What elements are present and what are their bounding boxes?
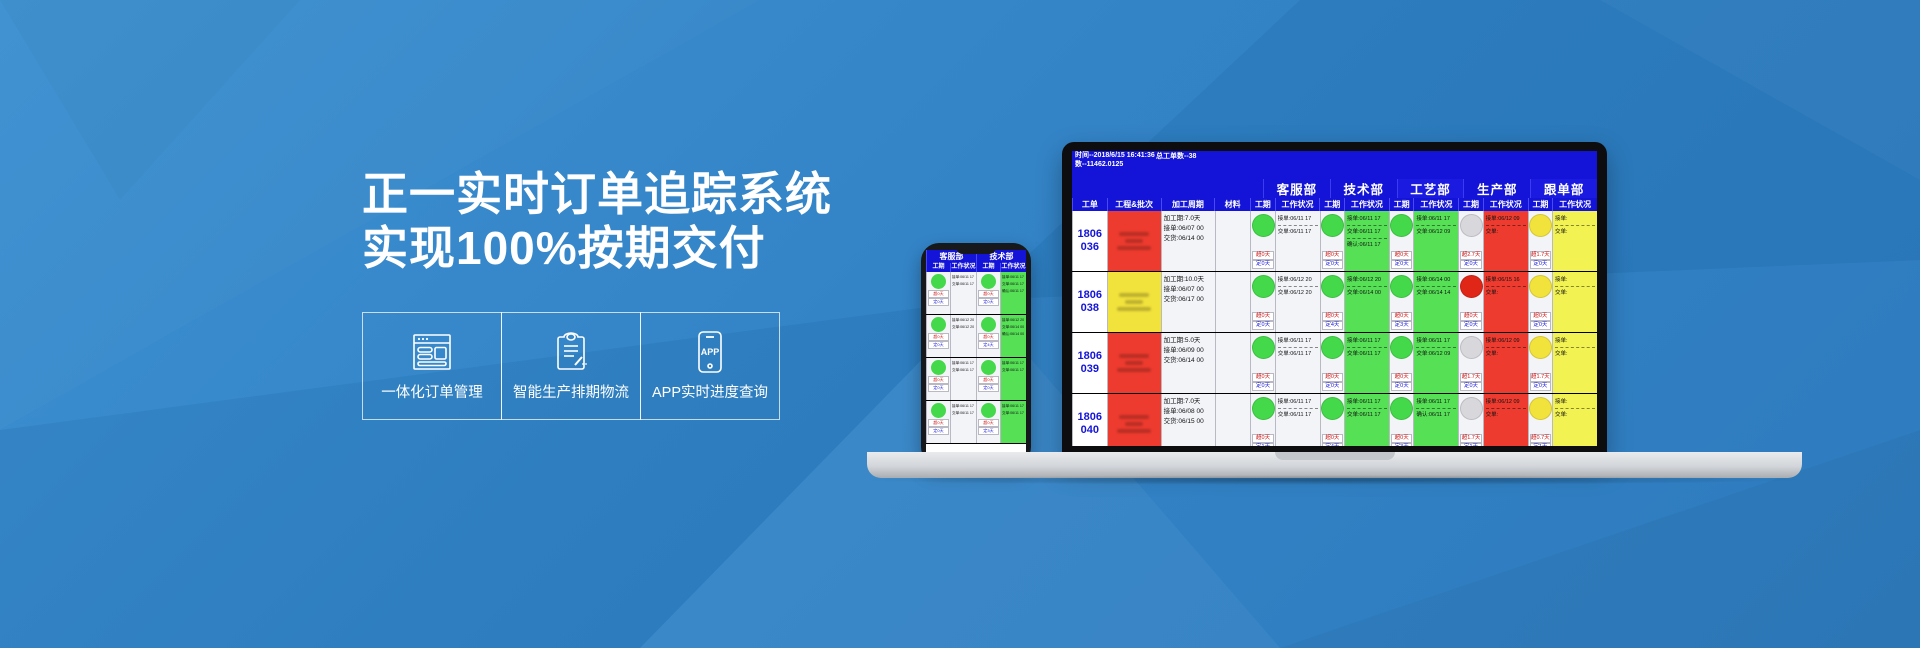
over-days-badge: 超0天: [1252, 312, 1273, 321]
status-line: 交单:06/11 17: [1002, 410, 1025, 417]
table-row[interactable]: 1806039加工期:5.0天接单:06/09 00交货:06/14 00超0天…: [1072, 333, 1597, 394]
status-line: 接单:06/12 20: [1002, 317, 1025, 324]
phone-work-status-cell-1[interactable]: 接单:06/11 17交单:06/11 17确认:06/11 17: [1000, 272, 1026, 314]
status-line: 接单:06/11 17: [1416, 214, 1456, 224]
duration-cell-2[interactable]: 超0天定3天: [1389, 394, 1413, 446]
set-days-badge: 定4天: [1322, 321, 1343, 330]
status-line: 确认:06/11 17: [1002, 288, 1025, 295]
set-days-badge: 定0天: [1530, 382, 1551, 391]
set-days-badge: 定0天: [1391, 382, 1412, 391]
phone-table-row[interactable]: 超0天定0天接单:06/11 17交单:06/11 17超0天定3天接单:06/…: [926, 401, 1026, 444]
status-indicator-green: [1252, 214, 1275, 237]
status-line: 接单:06/12 20: [952, 317, 975, 324]
status-indicator-green: [1390, 275, 1413, 298]
status-line: 接单:06/11 17: [1416, 336, 1456, 346]
duration-cell-4[interactable]: 超1.7天定0天: [1528, 211, 1552, 271]
over-days-badge: 超0天: [1252, 373, 1273, 382]
over-days-badge: 超0天: [978, 419, 999, 427]
processing-cycle-cell: 加工期:7.0天接单:06/07 00交货:06/14 00: [1161, 211, 1215, 271]
feature-label: 一体化订单管理: [381, 381, 483, 402]
hero-copy: 正一实时订单追踪系统 实现100%按期交付: [362, 168, 922, 420]
status-line: 交单:06/12 20: [952, 324, 975, 331]
set-days-badge: 定0天: [978, 298, 999, 306]
project-batch-cell: [1107, 211, 1161, 271]
set-days-badge: 定0天: [928, 427, 949, 435]
phone-duration-cell-0[interactable]: 超0天定0天: [926, 315, 950, 357]
status-line: 接单:06/15 16: [1486, 275, 1526, 285]
status-indicator-green: [981, 360, 996, 375]
feature-label: 智能生产排期物流: [513, 381, 629, 402]
status-indicator-green: [931, 274, 946, 289]
work-status-cell-0[interactable]: 接单:06/11 17交单:06/11 17: [1275, 211, 1320, 271]
status-indicator-green: [931, 317, 946, 332]
duration-cell-2[interactable]: 超0天定3天: [1389, 272, 1413, 332]
mobile-app-icon: APP: [695, 329, 725, 375]
col-work-order: 工单: [1072, 198, 1107, 211]
over-days-badge: 超0天: [1252, 251, 1273, 260]
over-days-badge: 超0天: [1391, 251, 1412, 260]
set-days-badge: 定0天: [1530, 321, 1551, 330]
status-line: 接单:06/11 17: [1347, 336, 1387, 346]
headline-line-1: 正一实时订单追踪系统: [362, 168, 832, 220]
department-header-craft[interactable]: 工艺部: [1397, 179, 1464, 198]
processing-cycle-cell: 加工期:7.0天接单:06/08 00交货:06/15 00: [1161, 394, 1215, 446]
status-line: 交单:06/14 14: [1416, 288, 1456, 298]
over-days-badge: 超0天: [928, 333, 949, 341]
duration-cell-4[interactable]: 超0天定0天: [1528, 272, 1552, 332]
dashboard-meta-row: 时间--2018/6/15 16:41:36 数--11462.0125 总工单…: [1072, 151, 1597, 179]
work-status-cell-3[interactable]: 接单:06/12 09交单:: [1483, 211, 1528, 271]
app-icon-text: APP: [701, 347, 720, 357]
status-indicator-green: [1252, 397, 1275, 420]
status-line: 接单:06/11 17: [1278, 397, 1318, 407]
status-line: 接单:: [1555, 397, 1595, 407]
status-indicator-yellow: [1529, 397, 1552, 420]
headline-line-2: 实现100%按期交付: [362, 222, 922, 276]
over-days-badge: 超0天: [1252, 434, 1273, 443]
set-days-badge: 定0天: [1322, 382, 1343, 391]
work-order-number: 1806039: [1072, 333, 1107, 393]
department-header-technology[interactable]: 技术部: [1330, 179, 1397, 198]
status-indicator-green: [1321, 336, 1344, 359]
duration-cell-2[interactable]: 超0天定0天: [1389, 333, 1413, 393]
duration-cell-3[interactable]: 超0天定0天: [1458, 272, 1482, 332]
set-days-badge: 定0天: [1391, 260, 1412, 269]
set-days-badge: 定1天: [1252, 443, 1273, 446]
status-indicator-green: [931, 403, 946, 418]
phone-department-header: 客服部 技术部: [926, 250, 1026, 263]
project-batch-cell: [1107, 272, 1161, 332]
over-days-badge: 超0天: [1322, 434, 1343, 443]
status-line: 交单:: [1555, 288, 1595, 298]
dashboard-header: 时间--2018/6/15 16:41:36 数--11462.0125 总工单…: [1072, 151, 1597, 211]
work-status-cell-2[interactable]: 接单:06/11 17交单:06/12 09: [1413, 211, 1458, 271]
status-line: 接单:: [1555, 336, 1595, 346]
duration-cell-2[interactable]: 超0天定0天: [1389, 211, 1413, 271]
processing-cycle-cell: 加工期:10.0天接单:06/07 00交货:06/17 00: [1161, 272, 1215, 332]
set-days-badge: 定0天: [978, 384, 999, 392]
set-days-badge: 定3天: [978, 427, 999, 435]
status-line: 交单:06/12 09: [1416, 227, 1456, 237]
status-line: 接单:06/14 00: [1416, 275, 1456, 285]
status-indicator-green: [1252, 336, 1275, 359]
status-line: 交单:06/12 20: [1278, 288, 1318, 298]
status-line: 接单:06/12 20: [1278, 275, 1318, 285]
set-days-badge: 定4天: [978, 341, 999, 349]
status-line: 交单:: [1486, 410, 1526, 420]
phone-table-row[interactable]: 超0天定0天接单:06/11 17交单:06/11 17超0天定0天接单:06/…: [926, 358, 1026, 401]
over-days-badge: 超0天: [1530, 312, 1551, 321]
phone-col-status: 工作状况: [1000, 263, 1026, 272]
duration-cell-0[interactable]: 超0天定0天: [1250, 211, 1274, 271]
work-status-cell-1[interactable]: 接单:06/11 17交单:06/11 17确认:06/11 17: [1344, 211, 1389, 271]
over-days-badge: 超1.7天: [1460, 373, 1481, 382]
status-line: 接单:06/12 09: [1486, 397, 1526, 407]
dashboard-meta-total-wrap: 总工单数--38: [1200, 151, 1399, 163]
phone-screen: 客服部 技术部 工期 工作状况 工期 工作状况 超0天定0天接单:06/11 1…: [926, 250, 1026, 458]
phone-work-status-cell-1[interactable]: 接单:06/11 17交单:06/11 17: [1000, 358, 1026, 400]
work-status-cell-2[interactable]: 接单:06/14 00交单:06/14 14: [1413, 272, 1458, 332]
duration-cell-0[interactable]: 超0天定0天: [1250, 333, 1274, 393]
phone-dashboard: 客服部 技术部 工期 工作状况 工期 工作状况 超0天定0天接单:06/11 1…: [926, 250, 1026, 444]
over-days-badge: 超0天: [1322, 312, 1343, 321]
laptop-screen: 时间--2018/6/15 16:41:36 数--11462.0125 总工单…: [1072, 151, 1597, 446]
work-order-number: 1806036: [1072, 211, 1107, 271]
status-indicator-yellow: [1529, 275, 1552, 298]
status-line: 交单:06/11 17: [1278, 349, 1318, 359]
work-status-cell-4[interactable]: 接单:交单:: [1552, 272, 1597, 332]
department-header-order-follow[interactable]: 跟单部: [1530, 179, 1597, 198]
set-days-badge: 定3天: [1391, 443, 1412, 446]
total-orders-label: 总工单数--38: [1156, 151, 1196, 161]
phone-mockup: 客服部 技术部 工期 工作状况 工期 工作状况 超0天定0天接单:06/11 1…: [921, 243, 1031, 465]
status-line: 接单:06/11 17: [1347, 397, 1387, 407]
set-days-badge: 定0天: [1252, 321, 1273, 330]
status-line: 接单:06/11 17: [952, 403, 975, 410]
status-line: 交单:06/11 17: [952, 281, 975, 288]
phone-work-status-cell-0[interactable]: 接单:06/11 17交单:06/11 17: [950, 358, 976, 400]
over-days-badge: 超0天: [978, 290, 999, 298]
status-line: 交单:06/11 17: [1347, 349, 1387, 359]
phone-duration-cell-0[interactable]: 超0天定0天: [926, 401, 950, 443]
duration-cell-1[interactable]: 超0天定4天: [1320, 394, 1344, 446]
set-days-badge: 定0天: [1322, 260, 1343, 269]
column-header-row: 工单 工程&批次 加工周期 材料 工期工作状况工期工作状况工期工作状况工期工作状…: [1072, 198, 1597, 211]
over-days-badge: 超0天: [1460, 312, 1481, 321]
over-days-badge: 超0天: [928, 419, 949, 427]
count-label: 数--11462.0125: [1075, 161, 1200, 170]
phone-duration-cell-0[interactable]: 超0天定0天: [926, 272, 950, 314]
feature-item-order-management[interactable]: 一体化订单管理: [362, 312, 502, 420]
set-days-badge: 定4天: [1322, 443, 1343, 446]
status-line: 交单:: [1555, 349, 1595, 359]
work-status-cell-1[interactable]: 接单:06/11 17交单:06/11 17: [1344, 394, 1389, 446]
phone-col-duration: 工期: [976, 263, 1000, 272]
status-line: 接单:06/12 09: [1486, 336, 1526, 346]
work-status-cell-0[interactable]: 接单:06/11 17交单:06/11 17: [1275, 394, 1320, 446]
status-indicator-gray: [1460, 214, 1483, 237]
status-indicator-green: [1252, 275, 1275, 298]
status-line: 接单:06/11 17: [1002, 403, 1025, 410]
status-line: 接单:06/11 17: [1347, 214, 1387, 224]
feature-item-production-scheduling[interactable]: 智能生产排期物流: [501, 312, 641, 420]
phone-column-header: 工期 工作状况 工期 工作状况: [926, 263, 1026, 272]
status-line: 交单:: [1486, 349, 1526, 359]
status-line: 接单:06/11 17: [952, 274, 975, 281]
phone-work-status-cell-1[interactable]: 接单:06/11 17交单:06/11 17: [1000, 401, 1026, 443]
status-line: 交单:06/11 17: [1347, 227, 1387, 237]
material-cell: [1215, 394, 1250, 446]
work-status-cell-4[interactable]: 接单:交单:: [1552, 333, 1597, 393]
status-line: 交单:06/14 00: [1347, 288, 1387, 298]
table-row[interactable]: 1806038加工期:10.0天接单:06/07 00交货:06/17 00超0…: [1072, 272, 1597, 333]
material-cell: [1215, 211, 1250, 271]
work-status-cell-4[interactable]: 接单:交单:: [1552, 394, 1597, 446]
status-indicator-green: [1390, 214, 1413, 237]
duration-cell-0[interactable]: 超0天定1天: [1250, 394, 1274, 446]
set-days-badge: 定1天: [1530, 443, 1551, 446]
status-line: 交单:06/11 17: [1278, 227, 1318, 237]
status-line: 确认:06/14 00: [1002, 331, 1025, 338]
work-status-cell-4[interactable]: 接单:交单:: [1552, 211, 1597, 271]
over-days-badge: 超0天: [1391, 373, 1412, 382]
clipboard-icon: [551, 329, 591, 375]
table-row[interactable]: 1806040加工期:7.0天接单:06/08 00交货:06/15 00超0天…: [1072, 394, 1597, 446]
phone-col-duration: 工期: [926, 263, 950, 272]
status-indicator-green: [1321, 275, 1344, 298]
over-days-badge: 超0天: [978, 376, 999, 384]
work-status-cell-3[interactable]: 接单:06/12 09交单:: [1483, 394, 1528, 446]
duration-cell-4[interactable]: 超0.7天定1天: [1528, 394, 1552, 446]
over-days-badge: 超0天: [1322, 373, 1343, 382]
dashboard-table-body: 1806036加工期:7.0天接单:06/07 00交货:06/14 00超0天…: [1072, 211, 1597, 446]
phone-work-status-cell-0[interactable]: 接单:06/11 17交单:06/11 17: [950, 272, 976, 314]
status-line: 接单:06/11 17: [952, 360, 975, 367]
status-line: 交单:06/11 17: [1278, 410, 1318, 420]
work-status-cell-2[interactable]: 接单:06/11 17交单:06/12 09: [1413, 333, 1458, 393]
department-header-row: 客服部 技术部 工艺部 生产部 跟单部: [1072, 179, 1597, 198]
laptop-shadow: [857, 475, 1812, 485]
over-days-badge: 超1.7天: [1530, 373, 1551, 382]
phone-work-status-cell-0[interactable]: 接单:06/11 17交单:06/11 17: [950, 401, 976, 443]
over-days-badge: 超0天: [978, 333, 999, 341]
status-line: 接单:06/12 20: [1347, 275, 1387, 285]
over-days-badge: 超2.7天: [1460, 251, 1481, 260]
processing-cycle-cell: 加工期:5.0天接单:06/09 00交货:06/14 00: [1161, 333, 1215, 393]
status-indicator-green: [1321, 397, 1344, 420]
status-indicator-green: [1321, 214, 1344, 237]
work-status-cell-2[interactable]: 接单:06/11 17确认:06/11 17: [1413, 394, 1458, 446]
laptop-lid: 时间--2018/6/15 16:41:36 数--11462.0125 总工单…: [1062, 142, 1607, 460]
order-tracking-dashboard: 时间--2018/6/15 16:41:36 数--11462.0125 总工单…: [1072, 151, 1597, 446]
phone-work-status-cell-0[interactable]: 接单:06/12 20交单:06/12 20: [950, 315, 976, 357]
status-line: 交单:06/14 00: [1002, 324, 1025, 331]
over-days-badge: 超1.7天: [1530, 251, 1551, 260]
status-line: 接单:06/11 17: [1002, 274, 1025, 281]
feature-item-app-progress-query[interactable]: APP APP实时进度查询: [640, 312, 780, 420]
work-status-cell-3[interactable]: 接单:06/12 09交单:: [1483, 333, 1528, 393]
set-days-badge: 定3天: [1391, 321, 1412, 330]
set-days-badge: 定0天: [1252, 260, 1273, 269]
status-line: 交单:06/12 09: [1416, 349, 1456, 359]
phone-duration-cell-1[interactable]: 超0天定0天: [976, 272, 1000, 314]
status-line: 接单:06/11 17: [1416, 397, 1456, 407]
status-indicator-green: [981, 317, 996, 332]
status-indicator-yellow: [1529, 214, 1552, 237]
over-days-badge: 超1.7天: [1460, 434, 1481, 443]
status-indicator-green: [1390, 397, 1413, 420]
work-status-cell-0[interactable]: 接单:06/11 17交单:06/11 17: [1275, 333, 1320, 393]
banner-stage: 正一实时订单追踪系统 实现100%按期交付: [0, 0, 1920, 648]
window-dashboard-icon: [411, 329, 453, 375]
work-status-cell-0[interactable]: 接单:06/12 20交单:06/12 20: [1275, 272, 1320, 332]
phone-dept-label: 技术部: [976, 250, 1026, 263]
status-line: 交单:: [1555, 410, 1595, 420]
status-line: 交单:: [1486, 288, 1526, 298]
over-days-badge: 超0天: [928, 376, 949, 384]
set-days-badge: 定0天: [1252, 382, 1273, 391]
work-order-number: 1806040: [1072, 394, 1107, 446]
set-days-badge: 定1天: [1460, 443, 1481, 446]
duration-cell-1[interactable]: 超0天定0天: [1320, 333, 1344, 393]
table-row[interactable]: 1806036加工期:7.0天接单:06/07 00交货:06/14 00超0天…: [1072, 211, 1597, 272]
material-cell: [1215, 333, 1250, 393]
duration-cell-1[interactable]: 超0天定4天: [1320, 272, 1344, 332]
set-days-badge: 定0天: [1460, 321, 1481, 330]
status-indicator-gray: [1460, 336, 1483, 359]
duration-cell-3[interactable]: 超1.7天定0天: [1458, 333, 1482, 393]
work-order-number: 1806038: [1072, 272, 1107, 332]
duration-cell-4[interactable]: 超1.7天定0天: [1528, 333, 1552, 393]
feature-label: APP实时进度查询: [652, 381, 768, 402]
material-cell: [1215, 272, 1250, 332]
col-processing-cycle: 加工周期: [1161, 198, 1215, 211]
status-line: 交单:06/11 17: [952, 410, 975, 417]
phone-table-body: 超0天定0天接单:06/11 17交单:06/11 17超0天定0天接单:06/…: [926, 272, 1026, 444]
status-indicator-green: [981, 403, 996, 418]
set-days-badge: 定0天: [928, 384, 949, 392]
set-days-badge: 定0天: [1460, 382, 1481, 391]
status-line: 交单:06/11 17: [1002, 281, 1025, 288]
status-line: 接单:06/11 17: [1278, 214, 1318, 224]
set-days-badge: 定0天: [1530, 260, 1551, 269]
department-header-customer-service[interactable]: 客服部: [1263, 179, 1330, 198]
col-project-batch: 工程&批次: [1107, 198, 1161, 211]
status-line: 交单:06/11 17: [1347, 410, 1387, 420]
phone-table-row[interactable]: 超0天定0天接单:06/11 17交单:06/11 17超0天定0天接单:06/…: [926, 272, 1026, 315]
status-line: 交单:: [1486, 227, 1526, 237]
over-days-badge: 超0天: [1391, 312, 1412, 321]
col-material: 材料: [1214, 198, 1250, 211]
duration-cell-3[interactable]: 超2.7天定0天: [1458, 211, 1482, 271]
duration-cell-1[interactable]: 超0天定0天: [1320, 211, 1344, 271]
phone-work-status-cell-1[interactable]: 接单:06/12 20交单:06/14 00确认:06/14 00: [1000, 315, 1026, 357]
laptop-mockup: 时间--2018/6/15 16:41:36 数--11462.0125 总工单…: [1062, 142, 1607, 472]
department-header-production[interactable]: 生产部: [1463, 179, 1530, 198]
status-line: 接单:: [1555, 275, 1595, 285]
status-line: 交单:: [1555, 227, 1595, 237]
status-indicator-green: [1390, 336, 1413, 359]
duration-cell-0[interactable]: 超0天定0天: [1250, 272, 1274, 332]
work-status-cell-3[interactable]: 接单:06/15 16交单:: [1483, 272, 1528, 332]
status-line: 接单:06/11 17: [1278, 336, 1318, 346]
over-days-badge: 超0天: [1391, 434, 1412, 443]
status-line: 确认:06/11 17: [1416, 410, 1456, 420]
over-days-badge: 超0天: [1322, 251, 1343, 260]
status-line: 确认:06/11 17: [1347, 240, 1387, 250]
status-indicator-gray: [1460, 397, 1483, 420]
phone-table-row[interactable]: 超0天定0天接单:06/12 20交单:06/12 20超0天定4天接单:06/…: [926, 315, 1026, 358]
status-indicator-green: [931, 360, 946, 375]
status-line: 交单:06/11 17: [952, 367, 975, 374]
phone-duration-cell-1[interactable]: 超0天定4天: [976, 315, 1000, 357]
work-status-cell-1[interactable]: 接单:06/12 20交单:06/14 00: [1344, 272, 1389, 332]
status-line: 接单:: [1555, 214, 1595, 224]
feature-list: 一体化订单管理 智能生产排期物流: [362, 312, 922, 420]
status-indicator-green: [981, 274, 996, 289]
phone-duration-cell-1[interactable]: 超0天定0天: [976, 358, 1000, 400]
over-days-badge: 超0.7天: [1530, 434, 1551, 443]
duration-cell-3[interactable]: 超1.7天定1天: [1458, 394, 1482, 446]
phone-col-status: 工作状况: [950, 263, 976, 272]
status-indicator-red: [1460, 275, 1483, 298]
project-batch-cell: [1107, 333, 1161, 393]
phone-dept-label: 客服部: [926, 250, 976, 263]
phone-duration-cell-1[interactable]: 超0天定3天: [976, 401, 1000, 443]
set-days-badge: 定0天: [928, 298, 949, 306]
page-title: 正一实时订单追踪系统 实现100%按期交付: [362, 168, 922, 276]
work-status-cell-1[interactable]: 接单:06/11 17交单:06/11 17: [1344, 333, 1389, 393]
set-days-badge: 定0天: [928, 341, 949, 349]
status-indicator-yellow: [1529, 336, 1552, 359]
project-batch-cell: [1107, 394, 1161, 446]
phone-duration-cell-0[interactable]: 超0天定0天: [926, 358, 950, 400]
status-line: 交单:06/11 17: [1002, 367, 1025, 374]
over-days-badge: 超0天: [928, 290, 949, 298]
status-line: 接单:06/11 17: [1002, 360, 1025, 367]
status-line: 接单:06/12 09: [1486, 214, 1526, 224]
set-days-badge: 定0天: [1460, 260, 1481, 269]
